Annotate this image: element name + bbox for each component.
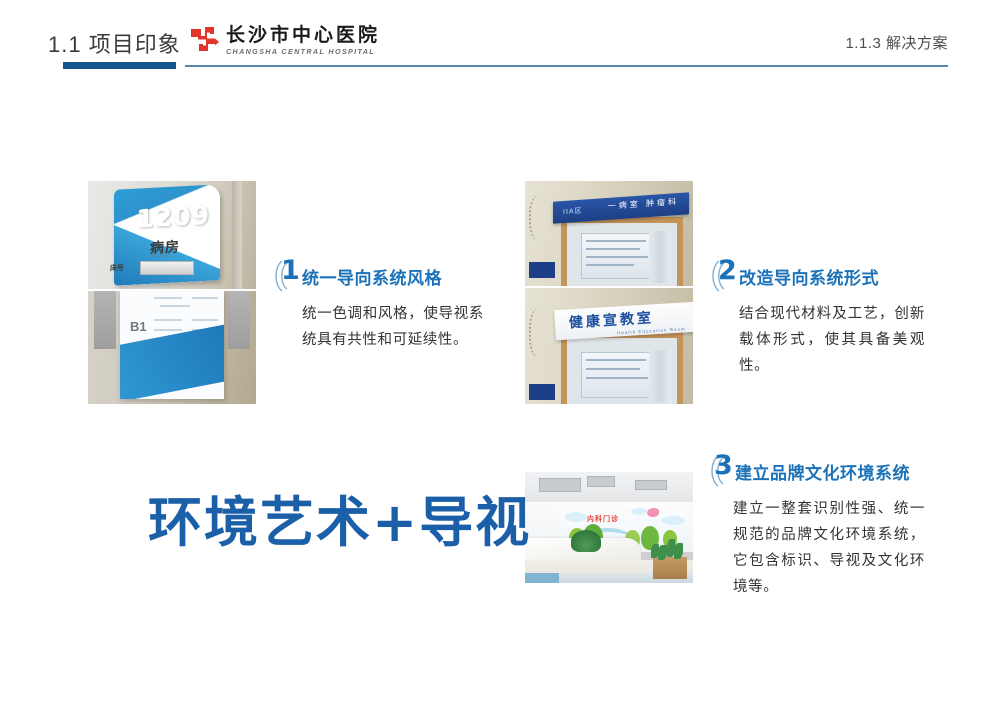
feature-body-2: 结合现代材料及工艺，创新载体形式，使其具备美观性。 — [739, 301, 925, 379]
feature-title-1: 统一导向系统风格 — [302, 264, 442, 289]
hospital-cross-mark-icon — [190, 26, 220, 52]
header-rule-secondary — [185, 65, 948, 67]
directory-floor-label: B1 — [130, 319, 147, 334]
logo-name-cn: 长沙市中心医院 — [226, 20, 380, 47]
feature-block-2: 2 改造导向系统形式 结合现代材料及工艺，创新载体形式，使其具备美观性。 — [709, 262, 925, 379]
feature-body-3: 建立一整套识别性强、统一规范的品牌文化环境系统，它包含标识、导视及文化环境等。 — [733, 496, 925, 600]
ward-sign-photo-top: 1209 病房 Ward 床号 — [88, 181, 256, 289]
feature-block-3: 3 建立品牌文化环境系统 建立一整套识别性强、统一规范的品牌文化环境系统，它包含… — [709, 457, 931, 600]
logo-name-en: CHANGSHA CENTRAL HOSPITAL — [226, 47, 375, 56]
feature-title-3: 建立品牌文化环境系统 — [735, 459, 910, 484]
ward-room-number: 1209 — [136, 201, 210, 234]
lobby-mural-photo: 内科门诊 — [525, 472, 693, 583]
ward-bed-label: 床号 — [110, 263, 124, 273]
doorway-sign-photo: IIA区 一病室 肿瘤科 — [525, 181, 693, 286]
ward-room-label-en: Ward — [152, 253, 172, 260]
slide-canvas: 1.1 项目印象 长沙市中心医院 CHANGSHA CENTRAL HOSPIT… — [0, 0, 1000, 707]
health-education-room-photo: 健康宣教室 Health Education Room — [525, 288, 693, 404]
ward-bed-plate — [140, 261, 194, 275]
ward-directory-photo-bottom: B1 — [88, 291, 256, 404]
hospital-logo: 长沙市中心医院 CHANGSHA CENTRAL HOSPITAL — [190, 22, 350, 62]
feature-title-2: 改造导向系统形式 — [739, 264, 879, 289]
lobby-mural-text: 内科门诊 — [587, 514, 619, 524]
feature-number-2: 2 — [718, 257, 737, 284]
header-rule-primary — [63, 62, 176, 69]
page-title: 1.1 项目印象 — [48, 27, 181, 59]
big-title: 环境艺术+导视 — [148, 478, 531, 557]
slide-header: 1.1 项目印象 长沙市中心医院 CHANGSHA CENTRAL HOSPIT… — [0, 0, 1000, 80]
doorway-band-text: 一病室 肿瘤科 — [608, 196, 679, 212]
feature-block-1: 1 统一导向系统风格 统一色调和风格，使导视系统具有共性和可延续性。 — [272, 262, 484, 353]
feature-body-1: 统一色调和风格，使导视系统具有共性和可延续性。 — [302, 301, 484, 353]
feature-number-1: 1 — [281, 257, 300, 284]
doorway-band-text-left: IIA区 — [563, 206, 583, 217]
header-right-label: 1.1.3 解决方案 — [845, 32, 948, 53]
feature-number-3: 3 — [714, 452, 733, 479]
